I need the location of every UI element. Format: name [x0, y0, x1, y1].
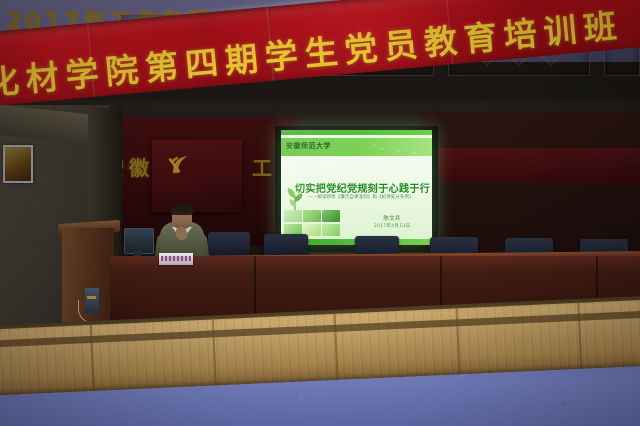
- slide-university-logo: 安徽师范大学: [286, 141, 331, 151]
- framed-artwork: [3, 145, 33, 183]
- slide-subtitle: ——解读新修《廉洁自律准则》和《纪律处分条例》: [291, 194, 431, 200]
- overhead-banner: 化材学院第四期学生党员教育培训班: [0, 0, 640, 116]
- slide-thumbnail-grid: [284, 210, 340, 236]
- lecture-hall-photo: 2017年工作布置会 安徽 工 安徽师范大学: [0, 0, 640, 426]
- speaker-hair: [171, 204, 193, 215]
- slide-date: 2017年4月13日: [359, 223, 425, 229]
- projection-screen[interactable]: 安徽师范大学 切实把党纪党规刻于心践于行 ——解读新修《廉洁自律准则》和《纪律处…: [281, 130, 432, 245]
- power-led-icon: [87, 296, 96, 299]
- name-placard: [159, 253, 193, 265]
- center-backdrop-text: 工: [252, 152, 275, 181]
- party-flag: [152, 140, 242, 212]
- slide-thumbnail: [322, 210, 340, 222]
- slide-thumbnail: [303, 210, 321, 222]
- slide-presenter-name: 陈文兵: [359, 214, 425, 222]
- slide-title: 切实把党纪党规刻于心践于行: [295, 180, 427, 195]
- slide-thumbnail: [322, 224, 340, 236]
- placard-text-line: [161, 256, 191, 261]
- right-backdrop-banner: [424, 148, 640, 182]
- slide-top-accent-bar: [281, 130, 432, 135]
- slide-thumbnail: [284, 210, 302, 222]
- hammer-sickle-icon: [168, 152, 194, 178]
- slide-body: 切实把党纪党规刻于心践于行 ——解读新修《廉洁自律准则》和《纪律处分条例》 陈文…: [281, 156, 432, 239]
